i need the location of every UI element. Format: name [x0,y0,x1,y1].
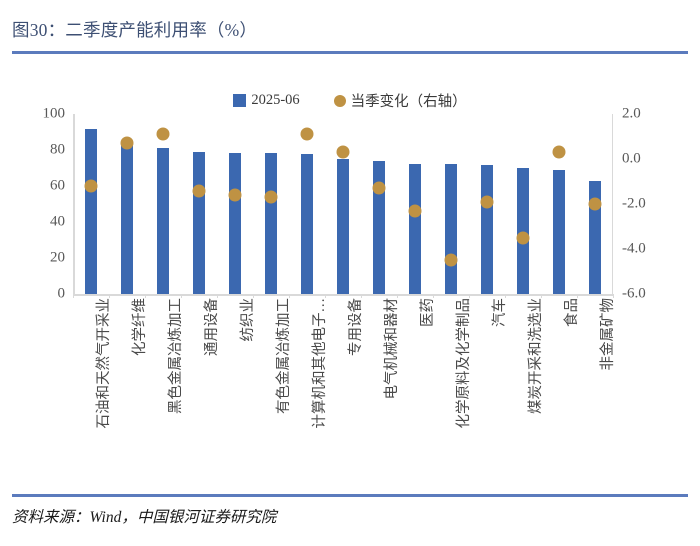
circle-icon [334,95,346,107]
x-axis-category-label-text: 专用设备 [349,298,364,356]
data-point-marker [265,191,278,204]
data-point-marker [229,189,242,202]
y-axis-left-tick-label: 40 [50,214,65,231]
x-axis-category-label-text: 汽车 [493,298,508,327]
y-axis-right-tick-label: -6.0 [622,286,646,303]
x-axis-category-label-text: 石油和天然气开采业 [97,298,112,429]
y-axis-left-tick-label: 80 [50,142,65,159]
x-axis-category-label-text: 有色金属冶炼加工 [277,298,292,414]
y-axis-right: 2.00.0-2.0-4.0-6.0 [622,114,682,294]
x-axis-category-label-text: 煤炭开采和洗选业 [529,298,544,414]
x-axis-category-label-text: 食品 [565,298,580,327]
data-point-marker [517,231,530,244]
data-point-marker [445,254,458,267]
x-axis-category-label: 石油和天然气开采业 [97,298,112,429]
y-axis-right-tick-label: 0.0 [622,151,641,168]
x-axis-category-label: 通用设备 [205,298,220,356]
y-axis-right-tick-label: 2.0 [622,106,641,123]
legend-label-dot-series: 当季变化（右轴） [351,90,467,111]
x-axis-category-label-text: 化学纤维 [133,298,148,356]
y-axis-right-tick-label: -2.0 [622,196,646,213]
data-point-marker [409,204,422,217]
data-point-marker [589,198,602,211]
data-point-marker [337,146,350,159]
x-axis-category-label: 计算机和其他电子… [313,298,328,429]
x-axis-category-label: 黑色金属冶炼加工 [169,298,184,414]
legend-item-dot-series: 当季变化（右轴） [334,90,467,111]
x-axis-category-label-text: 纺织业 [241,298,256,342]
legend-label-bar-series: 2025-06 [251,92,299,109]
x-axis-category-label-text: 黑色金属冶炼加工 [169,298,184,414]
data-point-marker [85,180,98,193]
data-point-marker [121,137,134,150]
y-axis-left-tick-label: 0 [58,286,66,303]
chart-legend: 2025-06 当季变化（右轴） [0,90,700,111]
source-note: 资料来源：Wind，中国银河证券研究院 [12,505,276,527]
x-axis-category-label: 非金属矿物 [601,298,616,371]
data-point-marker [373,182,386,195]
data-point-marker [481,195,494,208]
x-axis-category-label: 食品 [565,298,580,327]
x-axis-category-label-text: 通用设备 [205,298,220,356]
data-point-marker [553,146,566,159]
y-axis-left-tick-label: 60 [50,178,65,195]
x-axis-category-label: 医药 [421,298,436,327]
title-divider [12,51,688,54]
y-axis-left: 020406080100 [20,114,65,294]
x-axis-category-label-text: 非金属矿物 [601,298,616,371]
plot-baseline [73,294,613,296]
x-axis-category-label: 化学原料及化学制品 [457,298,472,429]
legend-item-bar-series: 2025-06 [233,92,299,109]
y-axis-left-tick-label: 100 [43,106,66,123]
square-icon [233,94,246,107]
x-axis-category-label: 汽车 [493,298,508,327]
footer-divider [12,494,688,497]
y-axis-right-tick-label: -4.0 [622,241,646,258]
data-point-marker [193,184,206,197]
x-axis-category-label: 电气机械和器材 [385,298,400,400]
x-axis-category-label-text: 化学原料及化学制品 [457,298,472,429]
x-axis-category-label-text: 电气机械和器材 [385,298,400,400]
x-axis-category-label: 煤炭开采和洗选业 [529,298,544,414]
x-axis-category-label: 专用设备 [349,298,364,356]
x-axis-category-label: 有色金属冶炼加工 [277,298,292,414]
x-axis-category-label: 化学纤维 [133,298,148,356]
x-axis-category-label-text: 医药 [421,298,436,327]
x-axis-category-label: 纺织业 [241,298,256,342]
data-point-marker [301,128,314,141]
page-title: 图30：二季度产能利用率（%） [12,17,257,42]
y-axis-left-tick-label: 20 [50,250,65,267]
plot-area [73,114,613,294]
data-point-marker [157,128,170,141]
x-axis-category-labels: 石油和天然气开采业化学纤维黑色金属冶炼加工通用设备纺织业有色金属冶炼加工计算机和… [73,298,613,488]
x-axis-category-label-text: 计算机和其他电子… [313,298,328,429]
dot-series-layer [73,114,613,294]
